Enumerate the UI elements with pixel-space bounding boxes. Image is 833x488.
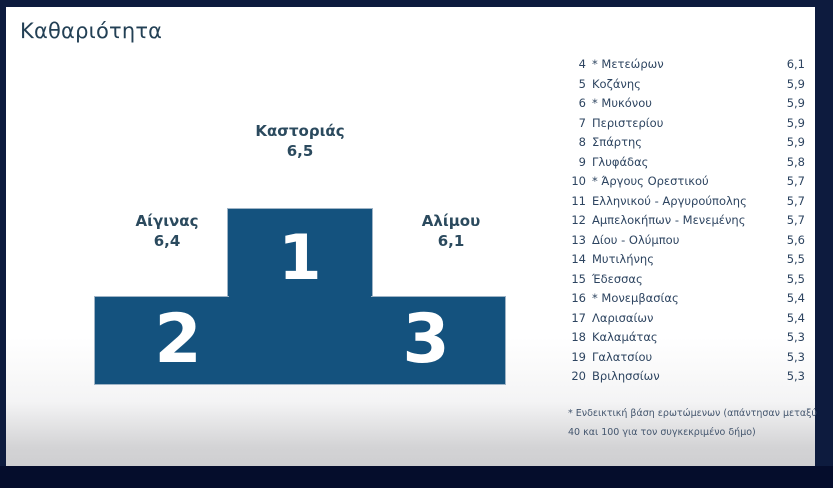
list-item-rank: 15 — [568, 272, 586, 286]
list-item-rank: 19 — [568, 350, 586, 364]
podium-label-second: Αίγινας 6,4 — [107, 211, 227, 252]
list-item-rank: 20 — [568, 369, 586, 383]
podium-numeral-second: 2 — [108, 306, 248, 374]
podium-numeral-third: 3 — [356, 306, 496, 374]
podium-label-second-name: Αίγινας — [107, 211, 227, 231]
list-item-rank: 11 — [568, 194, 586, 208]
list-item-rank: 10 — [568, 174, 586, 188]
list-item-value: 5,9 — [787, 135, 805, 149]
list-item: 14Μυτιλήνης5,5 — [568, 252, 813, 272]
list-item-name: Κοζάνης — [592, 77, 641, 91]
list-item-value: 5,9 — [787, 77, 805, 91]
podium-label-third-name: Αλίμου — [391, 211, 511, 231]
list-item: 17Λαρισαίων5,4 — [568, 311, 813, 331]
list-item-rank: 16 — [568, 291, 586, 305]
podium-label-third-value: 6,1 — [391, 231, 511, 251]
list-item: 13Δίου - Ολύμπου5,6 — [568, 233, 813, 253]
list-item-name: Ελληνικού - Αργυρούπολης — [592, 194, 747, 208]
list-item-value: 5,9 — [787, 96, 805, 110]
podium-label-first: Καστοριάς 6,5 — [217, 121, 383, 162]
list-item-name: Γαλατσίου — [592, 350, 652, 364]
list-item-rank: 9 — [568, 155, 586, 169]
list-item-rank: 18 — [568, 330, 586, 344]
list-item-rank: 5 — [568, 77, 586, 91]
list-item: 18Καλαμάτας5,3 — [568, 330, 813, 350]
list-item-name: Καλαμάτας — [592, 330, 658, 344]
list-item-name: * Άργους Ορεστικού — [592, 174, 709, 188]
list-item: 10* Άργους Ορεστικού5,7 — [568, 174, 813, 194]
list-item-rank: 13 — [568, 233, 586, 247]
list-item-value: 5,7 — [787, 174, 805, 188]
list-item-rank: 4 — [568, 57, 586, 71]
slide-canvas: Καθαριότητα 1 2 3 Καστοριάς 6,5 Αίγινας … — [6, 7, 815, 466]
list-item-value: 5,3 — [787, 369, 805, 383]
podium-numeral-first: 1 — [227, 227, 373, 289]
list-item-name: Περιστερίου — [592, 116, 663, 130]
slide-container: Καθαριότητα 1 2 3 Καστοριάς 6,5 Αίγινας … — [0, 0, 833, 488]
list-item-name: Σπάρτης — [592, 135, 642, 149]
list-item-rank: 7 — [568, 116, 586, 130]
list-item-value: 5,6 — [787, 233, 805, 247]
list-item-rank: 14 — [568, 252, 586, 266]
list-item-name: Βριλησσίων — [592, 369, 660, 383]
list-item-rank: 17 — [568, 311, 586, 325]
podium-label-first-value: 6,5 — [217, 141, 383, 161]
list-item: 9Γλυφάδας5,8 — [568, 155, 813, 175]
list-item-rank: 8 — [568, 135, 586, 149]
list-item: 11Ελληνικού - Αργυρούπολης5,7 — [568, 194, 813, 214]
podium-seam — [229, 293, 371, 301]
slide-frame-bottom-bar — [0, 466, 833, 488]
list-item-rank: 6 — [568, 96, 586, 110]
list-item-value: 5,5 — [787, 272, 805, 286]
list-item-name: * Μυκόνου — [592, 96, 652, 110]
ranking-list: 4* Μετεώρων6,15Κοζάνης5,96* Μυκόνου5,97Π… — [568, 57, 813, 389]
list-item-name: Μυτιλήνης — [592, 252, 654, 266]
podium-label-first-name: Καστοριάς — [217, 121, 383, 141]
list-item-value: 5,4 — [787, 291, 805, 305]
podium-label-third: Αλίμου 6,1 — [391, 211, 511, 252]
list-item: 7Περιστερίου5,9 — [568, 116, 813, 136]
list-item-value: 5,3 — [787, 350, 805, 364]
list-item-value: 5,4 — [787, 311, 805, 325]
list-item: 15Έδεσσας5,5 — [568, 272, 813, 292]
list-item: 8Σπάρτης5,9 — [568, 135, 813, 155]
list-item: 16* Μονεμβασίας5,4 — [568, 291, 813, 311]
list-item: 6* Μυκόνου5,9 — [568, 96, 813, 116]
list-item-name: Δίου - Ολύμπου — [592, 233, 679, 247]
list-item-name: Γλυφάδας — [592, 155, 648, 169]
list-item-name: Έδεσσας — [592, 272, 643, 286]
footnote-text: * Ενδεικτική βάση ερωτώμενων (απάντησαν … — [568, 405, 818, 442]
list-item-value: 5,5 — [787, 252, 805, 266]
list-item: 12Αμπελοκήπων - Μενεμένης5,7 — [568, 213, 813, 233]
list-item-value: 5,8 — [787, 155, 805, 169]
list-item-value: 5,7 — [787, 213, 805, 227]
list-item-value: 5,7 — [787, 194, 805, 208]
list-item-value: 6,1 — [787, 57, 805, 71]
list-item-name: Αμπελοκήπων - Μενεμένης — [592, 213, 745, 227]
list-item: 19Γαλατσίου5,3 — [568, 350, 813, 370]
list-item-name: * Μετεώρων — [592, 57, 664, 71]
list-item-name: Λαρισαίων — [592, 311, 653, 325]
list-item-value: 5,3 — [787, 330, 805, 344]
list-item: 4* Μετεώρων6,1 — [568, 57, 813, 77]
list-item: 20Βριλησσίων5,3 — [568, 369, 813, 389]
list-item-value: 5,9 — [787, 116, 805, 130]
list-item-name: * Μονεμβασίας — [592, 291, 679, 305]
podium-label-second-value: 6,4 — [107, 231, 227, 251]
page-title: Καθαριότητα — [20, 19, 162, 43]
list-item-rank: 12 — [568, 213, 586, 227]
slide-frame-top-bar — [0, 0, 833, 7]
list-item: 5Κοζάνης5,9 — [568, 77, 813, 97]
